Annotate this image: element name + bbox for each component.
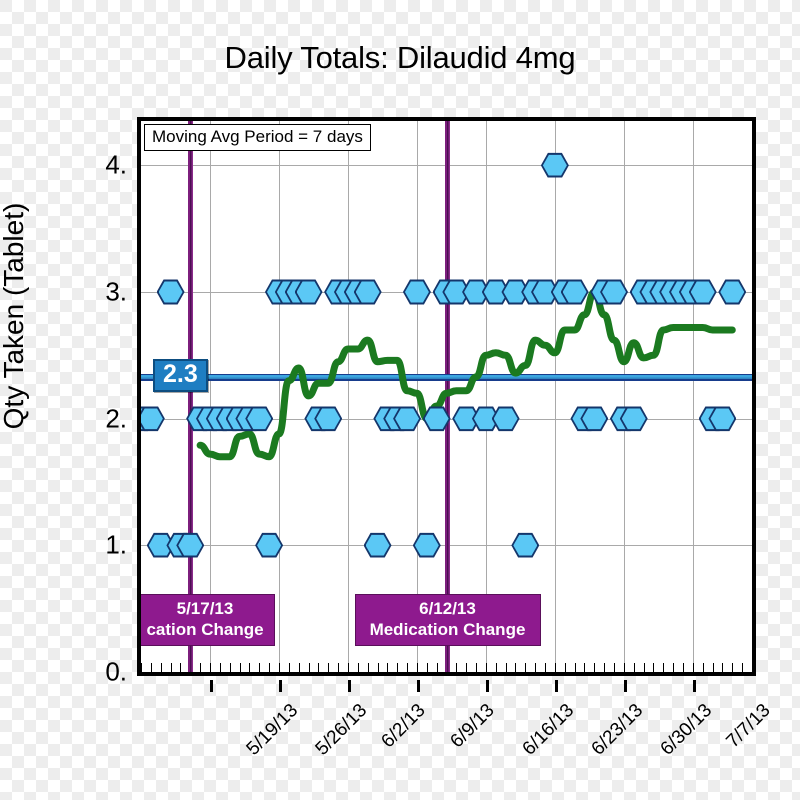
x-tick-label-6: 6/30/13 <box>656 700 716 760</box>
y-tick-label-4: 4. <box>67 150 127 181</box>
x-major-tick <box>279 680 282 692</box>
x-major-tick <box>417 680 420 692</box>
event-banner-date: 6/12/13 <box>362 598 534 619</box>
moving-average-line <box>141 121 752 672</box>
y-tick-label-2: 2. <box>67 403 127 434</box>
plot-inner: 2.3 Moving Avg Period = 7 days 5/17/13ca… <box>141 121 752 672</box>
event-banner-label: Medication Change <box>362 619 534 640</box>
x-tick-label-4: 6/16/13 <box>518 700 578 760</box>
x-major-tick <box>555 680 558 692</box>
x-major-tick <box>348 680 351 692</box>
x-tick-label-1: 5/26/13 <box>312 700 372 760</box>
moving-average-note: Moving Avg Period = 7 days <box>144 124 371 151</box>
event-banner-2[interactable]: 6/12/13Medication Change <box>355 594 541 646</box>
x-tick-label-7: 7/7/13 <box>722 700 775 753</box>
x-major-tick <box>210 680 213 692</box>
moving-average-path <box>200 292 732 457</box>
x-tick-label-3: 6/9/13 <box>446 700 499 753</box>
y-tick-label-1: 1. <box>67 530 127 561</box>
chart-canvas: Daily Totals: Dilaudid 4mg Qty Taken (Ta… <box>0 0 800 800</box>
event-banner-1[interactable]: 5/17/13cation Change <box>141 594 275 646</box>
x-major-tick <box>693 680 696 692</box>
x-tick-label-2: 6/2/13 <box>377 700 430 753</box>
y-tick-label-0: 0. <box>67 657 127 688</box>
x-tick-label-5: 6/23/13 <box>587 700 647 760</box>
event-banner-label: cation Change <box>142 619 268 640</box>
plot-area: 2.3 Moving Avg Period = 7 days 5/17/13ca… <box>137 117 756 676</box>
y-tick-label-3: 3. <box>67 277 127 308</box>
x-major-tick <box>624 680 627 692</box>
reference-value-badge: 2.3 <box>153 359 208 392</box>
x-tick-label-0: 5/19/13 <box>243 700 303 760</box>
y-axis-title: Qty Taken (Tablet) <box>0 106 30 526</box>
chart-title: Daily Totals: Dilaudid 4mg <box>0 40 800 76</box>
x-major-tick <box>486 680 489 692</box>
event-banner-date: 5/17/13 <box>142 598 268 619</box>
